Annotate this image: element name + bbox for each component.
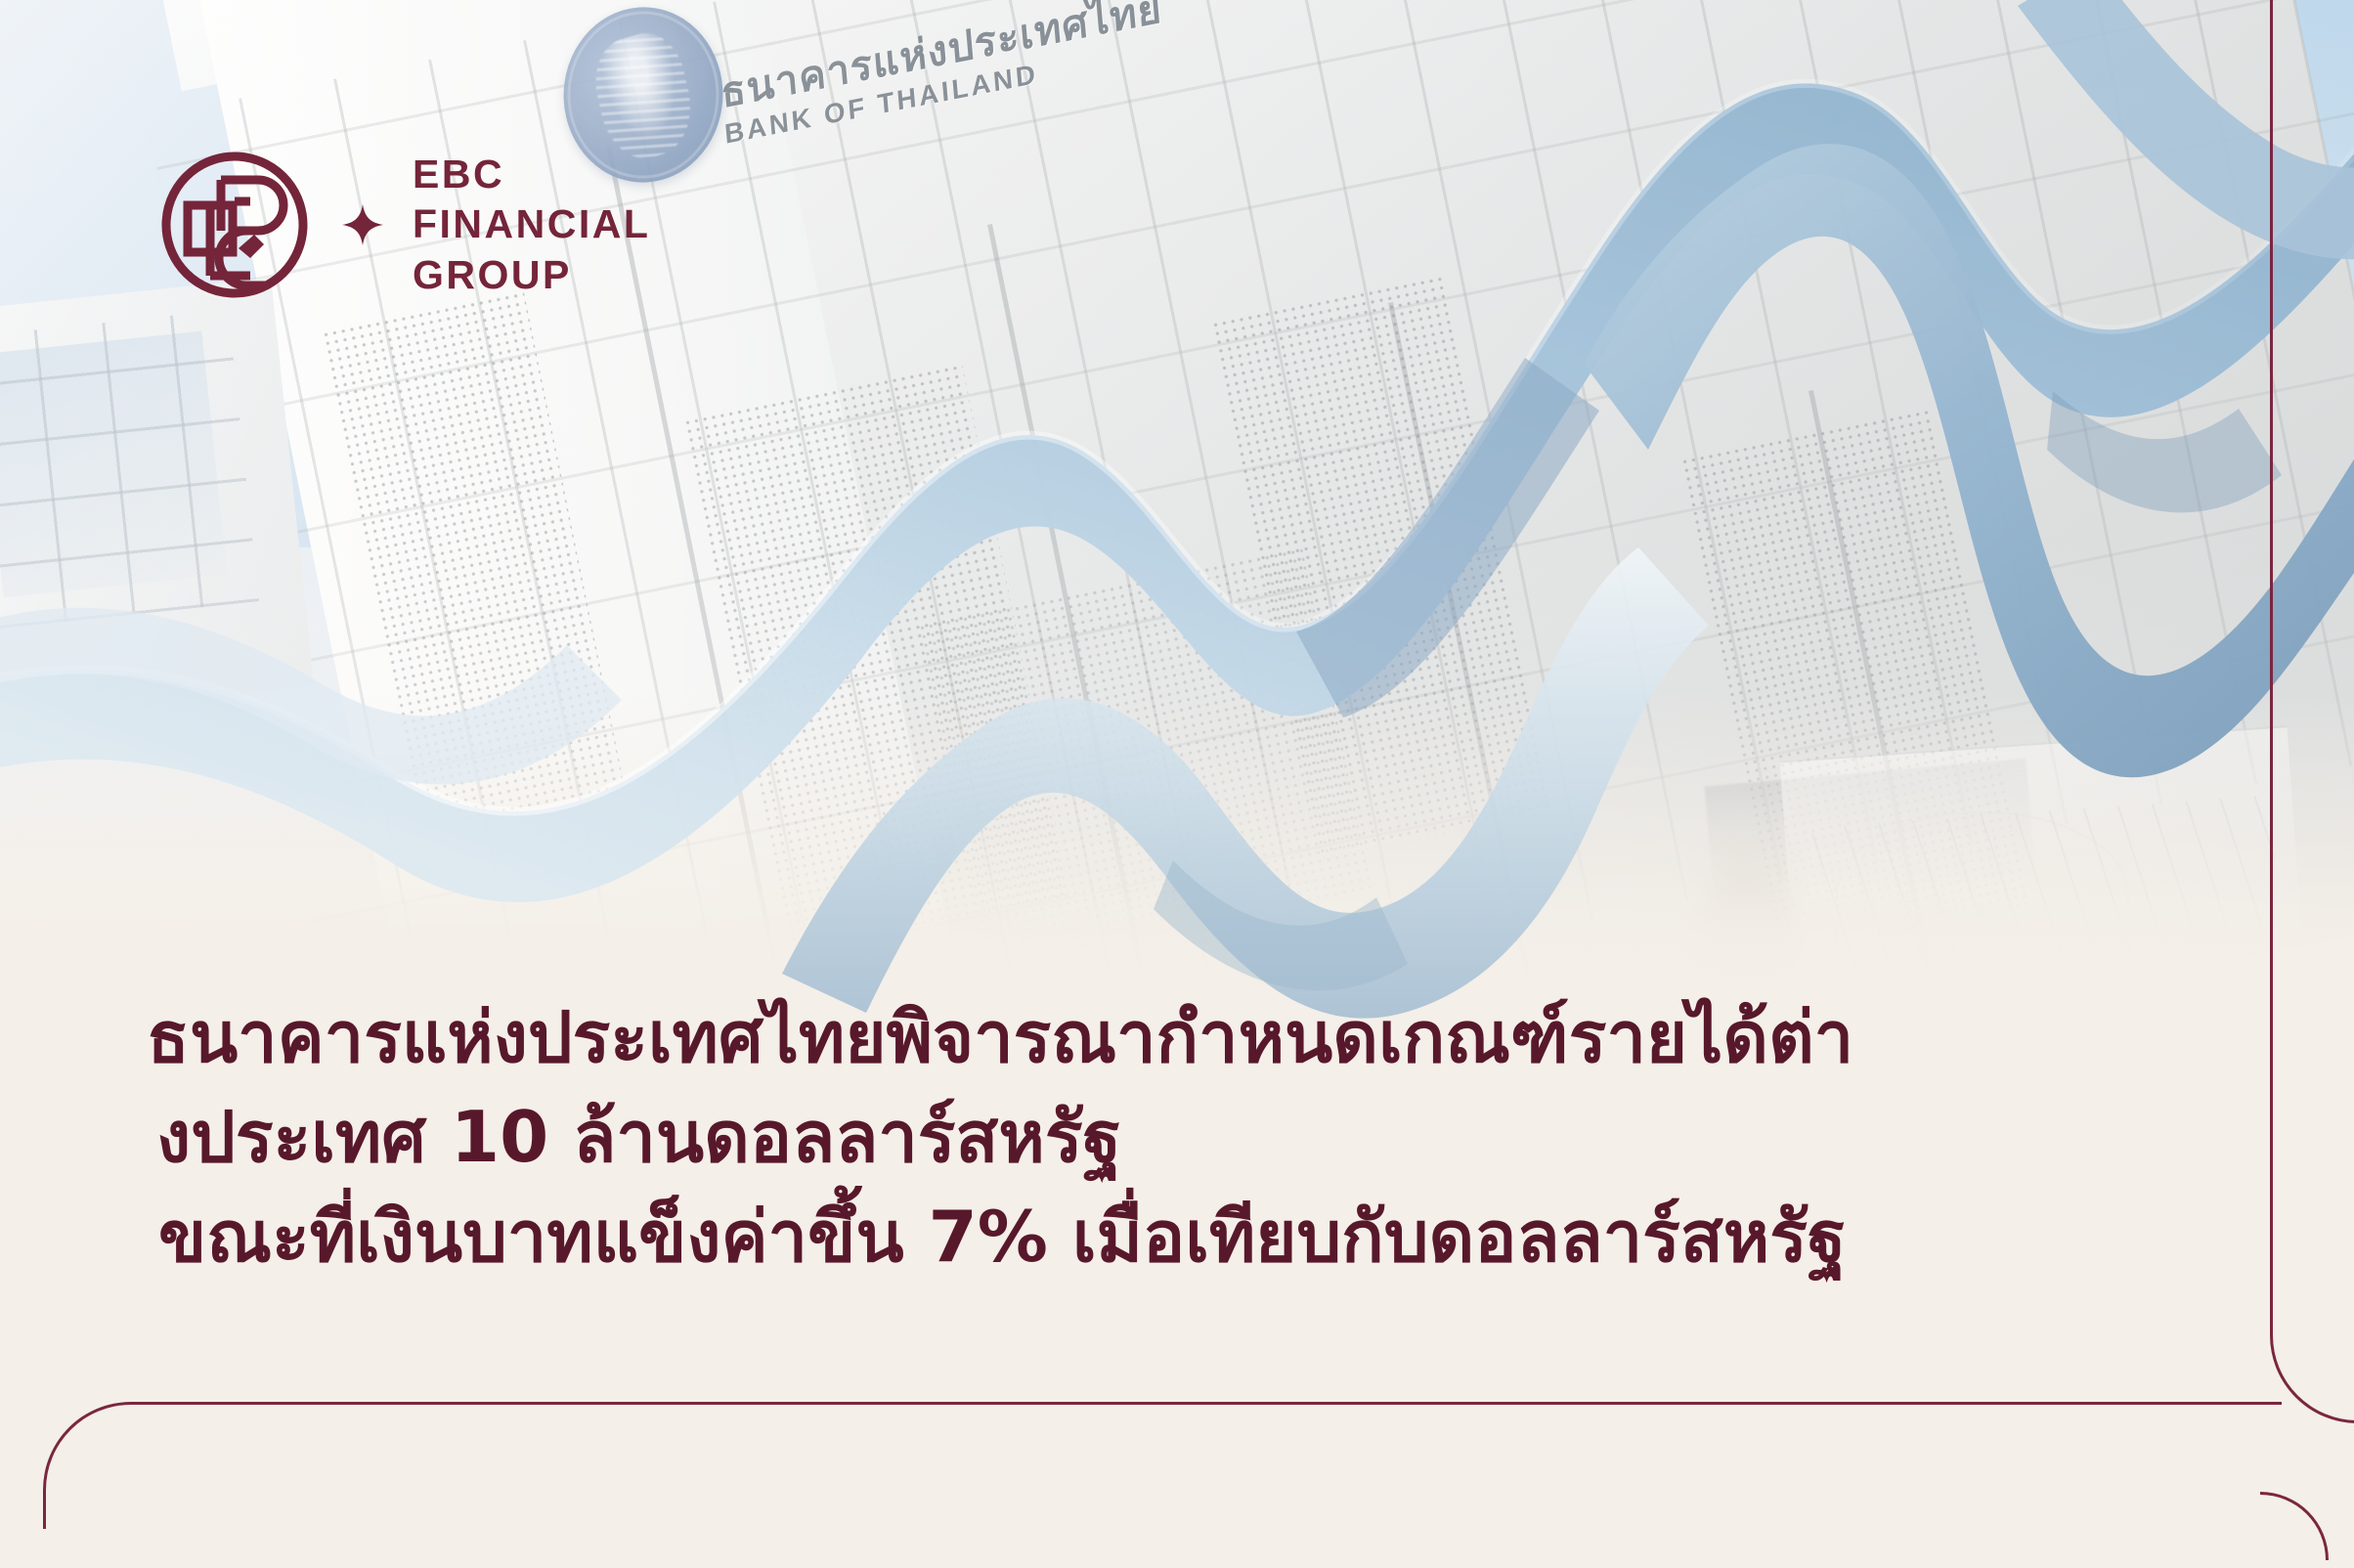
photo-bottom-fade — [0, 694, 2354, 987]
headline: ธนาคารแห่งประเทศไทยพิจารณากำหนดเกณฑ์รายไ… — [147, 987, 2229, 1287]
decorative-frame-corner — [2260, 1492, 2329, 1560]
decorative-frame-bottom-left — [43, 1402, 2282, 1529]
headline-line-2: งประเทศ 10 ล้านดอลลาร์สหรัฐ — [147, 1087, 2229, 1187]
ebc-monogram-icon — [156, 147, 313, 303]
decorative-frame-right — [2270, 0, 2354, 1423]
four-point-star-icon — [342, 204, 383, 245]
social-media-graphic: ธนาคารแห่งประเทศไทย BANK OF THAILAND — [0, 0, 2354, 1568]
logo-line-financial: FINANCIAL — [413, 199, 650, 250]
ebc-financial-group-logo[interactable]: EBC FINANCIAL GROUP — [156, 147, 650, 303]
logo-line-ebc: EBC — [413, 150, 650, 200]
headline-line-3: ขณะที่เงินบาทแข็งค่าขึ้น 7% เมื่อเทียบกั… — [147, 1187, 2229, 1286]
logo-wordmark: EBC FINANCIAL GROUP — [413, 150, 650, 301]
headline-line-1: ธนาคารแห่งประเทศไทยพิจารณากำหนดเกณฑ์รายไ… — [147, 987, 2229, 1087]
logo-line-group: GROUP — [413, 250, 650, 301]
